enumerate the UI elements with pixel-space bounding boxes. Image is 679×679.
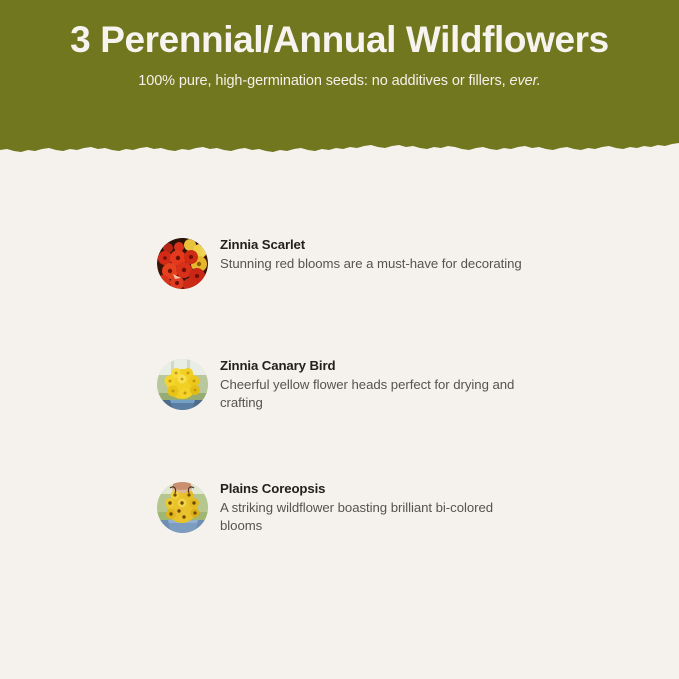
feature-title: Zinnia Canary Bird xyxy=(220,358,655,374)
feature-description: A striking wildflower boasting brilliant… xyxy=(220,499,532,535)
list-item[interactable]: Zinnia Scarlet Stunning red blooms are a… xyxy=(0,237,679,289)
feature-description: Stunning red blooms are a must-have for … xyxy=(220,255,532,273)
banner-content: 3 Perennial/Annual Wildflowers 100% pure… xyxy=(0,0,679,143)
feature-text: Plains Coreopsis A striking wildflower b… xyxy=(208,481,655,535)
product-feature-panel: 3 Perennial/Annual Wildflowers 100% pure… xyxy=(0,0,679,679)
feature-title: Plains Coreopsis xyxy=(220,481,655,497)
feature-text: Zinnia Canary Bird Cheerful yellow flowe… xyxy=(208,358,655,412)
header-banner: 3 Perennial/Annual Wildflowers 100% pure… xyxy=(0,0,679,156)
list-item[interactable]: Zinnia Canary Bird Cheerful yellow flowe… xyxy=(0,358,679,412)
banner-subtitle-emphasis: ever. xyxy=(510,73,541,89)
page-title: 3 Perennial/Annual Wildflowers xyxy=(70,22,609,58)
banner-subtitle-main: 100% pure, high-germination seeds: no ad… xyxy=(138,73,509,89)
list-item[interactable]: Plains Coreopsis A striking wildflower b… xyxy=(0,481,679,535)
feature-text: Zinnia Scarlet Stunning red blooms are a… xyxy=(208,237,655,273)
feature-description: Cheerful yellow flower heads perfect for… xyxy=(220,376,532,412)
feature-title: Zinnia Scarlet xyxy=(220,237,655,253)
zinnia-canary-bird-thumbnail[interactable] xyxy=(157,359,208,410)
zinnia-scarlet-thumbnail[interactable] xyxy=(157,238,208,289)
plains-coreopsis-thumbnail[interactable] xyxy=(157,482,208,533)
banner-subtitle: 100% pure, high-germination seeds: no ad… xyxy=(138,58,540,90)
feature-list: Zinnia Scarlet Stunning red blooms are a… xyxy=(0,156,679,604)
